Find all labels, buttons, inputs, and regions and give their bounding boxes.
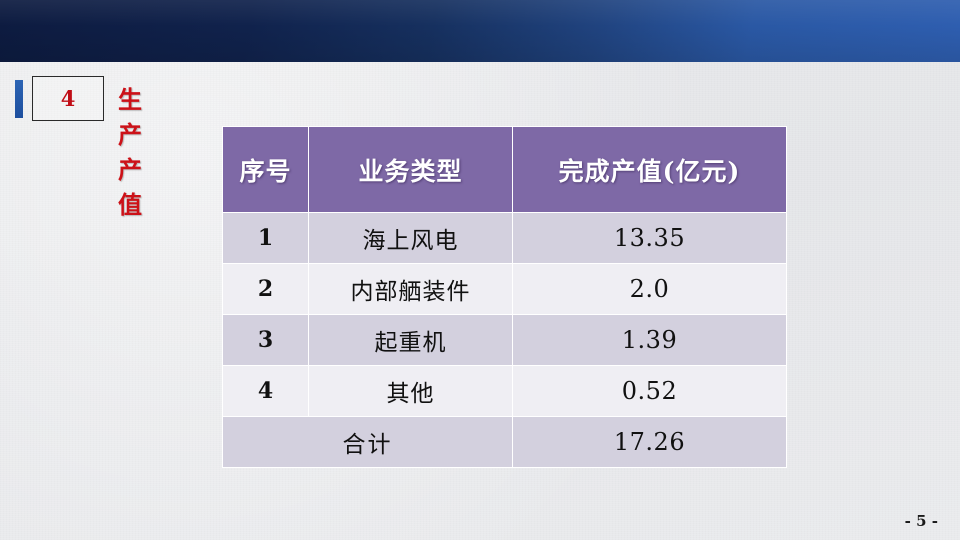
section-number: 4 [61,86,76,111]
cell-index: 1 [223,213,309,264]
column-header-index: 序号 [223,127,309,213]
section-title: 生产产值 [118,80,143,220]
accent-bar [15,80,23,118]
production-value-table-wrapper: 序号 业务类型 完成产值(亿元) 1 海上风电 13.35 2 内部舾装件 2.… [222,126,786,468]
cell-value: 1.39 [513,315,787,366]
cell-total-label: 合计 [223,417,513,468]
table-header-row: 序号 业务类型 完成产值(亿元) [223,127,787,213]
cell-value: 0.52 [513,366,787,417]
production-value-table: 序号 业务类型 完成产值(亿元) 1 海上风电 13.35 2 内部舾装件 2.… [222,126,787,468]
table-row: 1 海上风电 13.35 [223,213,787,264]
page-number: - 5 - [905,512,938,530]
section-number-box: 4 [32,76,104,121]
cell-business-type: 起重机 [309,315,513,366]
cell-value: 13.35 [513,213,787,264]
cell-business-type: 海上风电 [309,213,513,264]
table-row: 2 内部舾装件 2.0 [223,264,787,315]
banner-sheen [0,0,960,62]
slide-root: 2023年工作总结 CSSC 黄埔文冲 4 生产产值 序号 业务类型 完成产值(… [0,0,960,540]
cell-business-type: 内部舾装件 [309,264,513,315]
column-header-completed-value: 完成产值(亿元) [513,127,787,213]
table-row: 4 其他 0.52 [223,366,787,417]
table-row: 3 起重机 1.39 [223,315,787,366]
column-header-business-type: 业务类型 [309,127,513,213]
cell-index: 3 [223,315,309,366]
cell-value: 2.0 [513,264,787,315]
cell-business-type: 其他 [309,366,513,417]
title-banner [0,0,960,62]
table-header: 序号 业务类型 完成产值(亿元) [223,127,787,213]
cell-total-value: 17.26 [513,417,787,468]
table-total-row: 合计 17.26 [223,417,787,468]
cell-index: 2 [223,264,309,315]
table-body: 1 海上风电 13.35 2 内部舾装件 2.0 3 起重机 1.39 4 其他 [223,213,787,468]
cell-index: 4 [223,366,309,417]
